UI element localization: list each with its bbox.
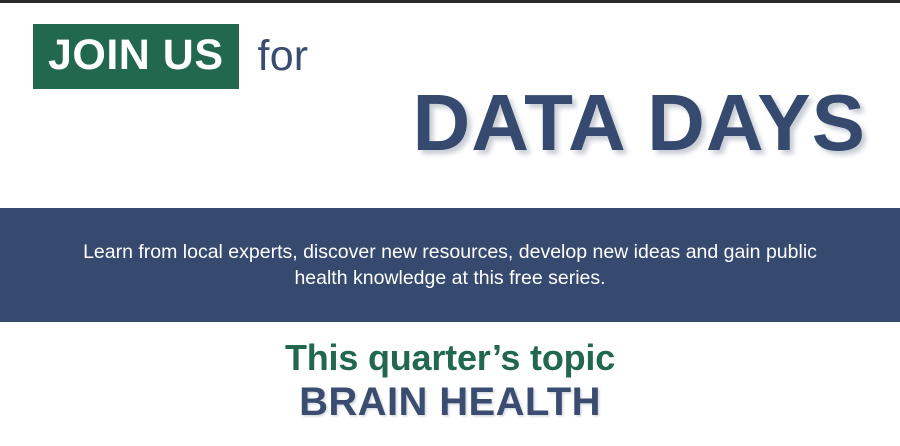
event-title: DATA DAYS — [413, 83, 867, 163]
data-days-flyer: JOIN US for DATA DAYS Learn from local e… — [0, 0, 900, 446]
description-band: Learn from local experts, discover new r… — [0, 208, 900, 322]
headline-section: JOIN US for DATA DAYS — [0, 3, 900, 208]
topic-kicker: This quarter’s topic — [0, 322, 900, 377]
topic-section: This quarter’s topic BRAIN HEALTH — [0, 322, 900, 446]
topic-title: BRAIN HEALTH — [0, 377, 900, 423]
connector-word-for: for — [258, 35, 309, 78]
description-text: Learn from local experts, discover new r… — [70, 239, 830, 292]
join-us-badge: JOIN US — [33, 24, 239, 89]
join-us-line: JOIN US for — [33, 24, 308, 89]
